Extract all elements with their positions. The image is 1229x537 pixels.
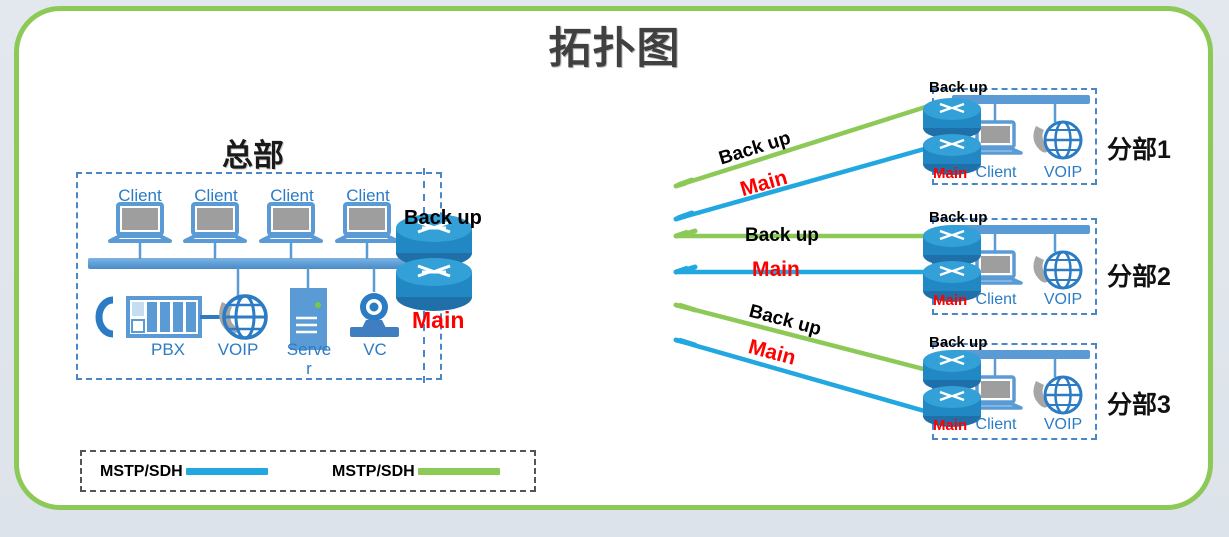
- legend-item-2-label: MSTP/SDH: [332, 463, 415, 481]
- branch1-bus: [952, 95, 1090, 104]
- link-main-branch2-label: Main: [752, 258, 800, 282]
- branch3-voip-label: VOIP: [1042, 416, 1084, 434]
- hq-client-3-label: Client: [264, 186, 320, 205]
- hq-server-label: Server: [285, 340, 333, 378]
- branch3-router-main-label: Main: [933, 417, 967, 434]
- branch3-router-backup-label: Back up: [929, 334, 987, 351]
- legend-item-1-label: MSTP/SDH: [100, 463, 183, 481]
- branch3-client-label: Client: [974, 416, 1018, 434]
- branch2-bus: [952, 225, 1090, 234]
- legend-item-1-swatch: [186, 468, 268, 475]
- hq-voip-label: VOIP: [216, 340, 260, 359]
- hq-router-main-label: Main: [412, 307, 464, 334]
- hq-router-backup-label: Back up: [404, 207, 482, 230]
- hq-pbx-label: PBX: [136, 340, 200, 359]
- page-title: 拓扑图: [0, 14, 1229, 76]
- branch1-router-main-label: Main: [933, 165, 967, 182]
- legend-item-2-swatch: [418, 468, 500, 475]
- topology-diagram: 拓扑图 总部: [0, 0, 1229, 537]
- branch2-router-main-label: Main: [933, 292, 967, 309]
- hq-client-1-label: Client: [112, 186, 168, 205]
- hq-vc-label: VC: [354, 340, 396, 359]
- branch2-title: 分部2: [1107, 257, 1171, 293]
- branch1-router-backup-label: Back up: [929, 79, 987, 96]
- link-backup-branch2-label: Back up: [745, 225, 819, 247]
- branch1-voip-label: VOIP: [1042, 164, 1084, 182]
- branch2-client-label: Client: [974, 291, 1018, 309]
- branch1-title: 分部1: [1107, 130, 1171, 166]
- branch2-voip-label: VOIP: [1042, 291, 1084, 309]
- hq-client-2-label: Client: [188, 186, 244, 205]
- hq-client-4-label: Client: [340, 186, 396, 205]
- headquarters-bus: [88, 258, 418, 269]
- branch2-router-backup-label: Back up: [929, 209, 987, 226]
- branch1-client-label: Client: [974, 164, 1018, 182]
- branch3-title: 分部3: [1107, 385, 1171, 421]
- branch3-bus: [952, 350, 1090, 359]
- headquarters-title: 总部: [222, 130, 284, 175]
